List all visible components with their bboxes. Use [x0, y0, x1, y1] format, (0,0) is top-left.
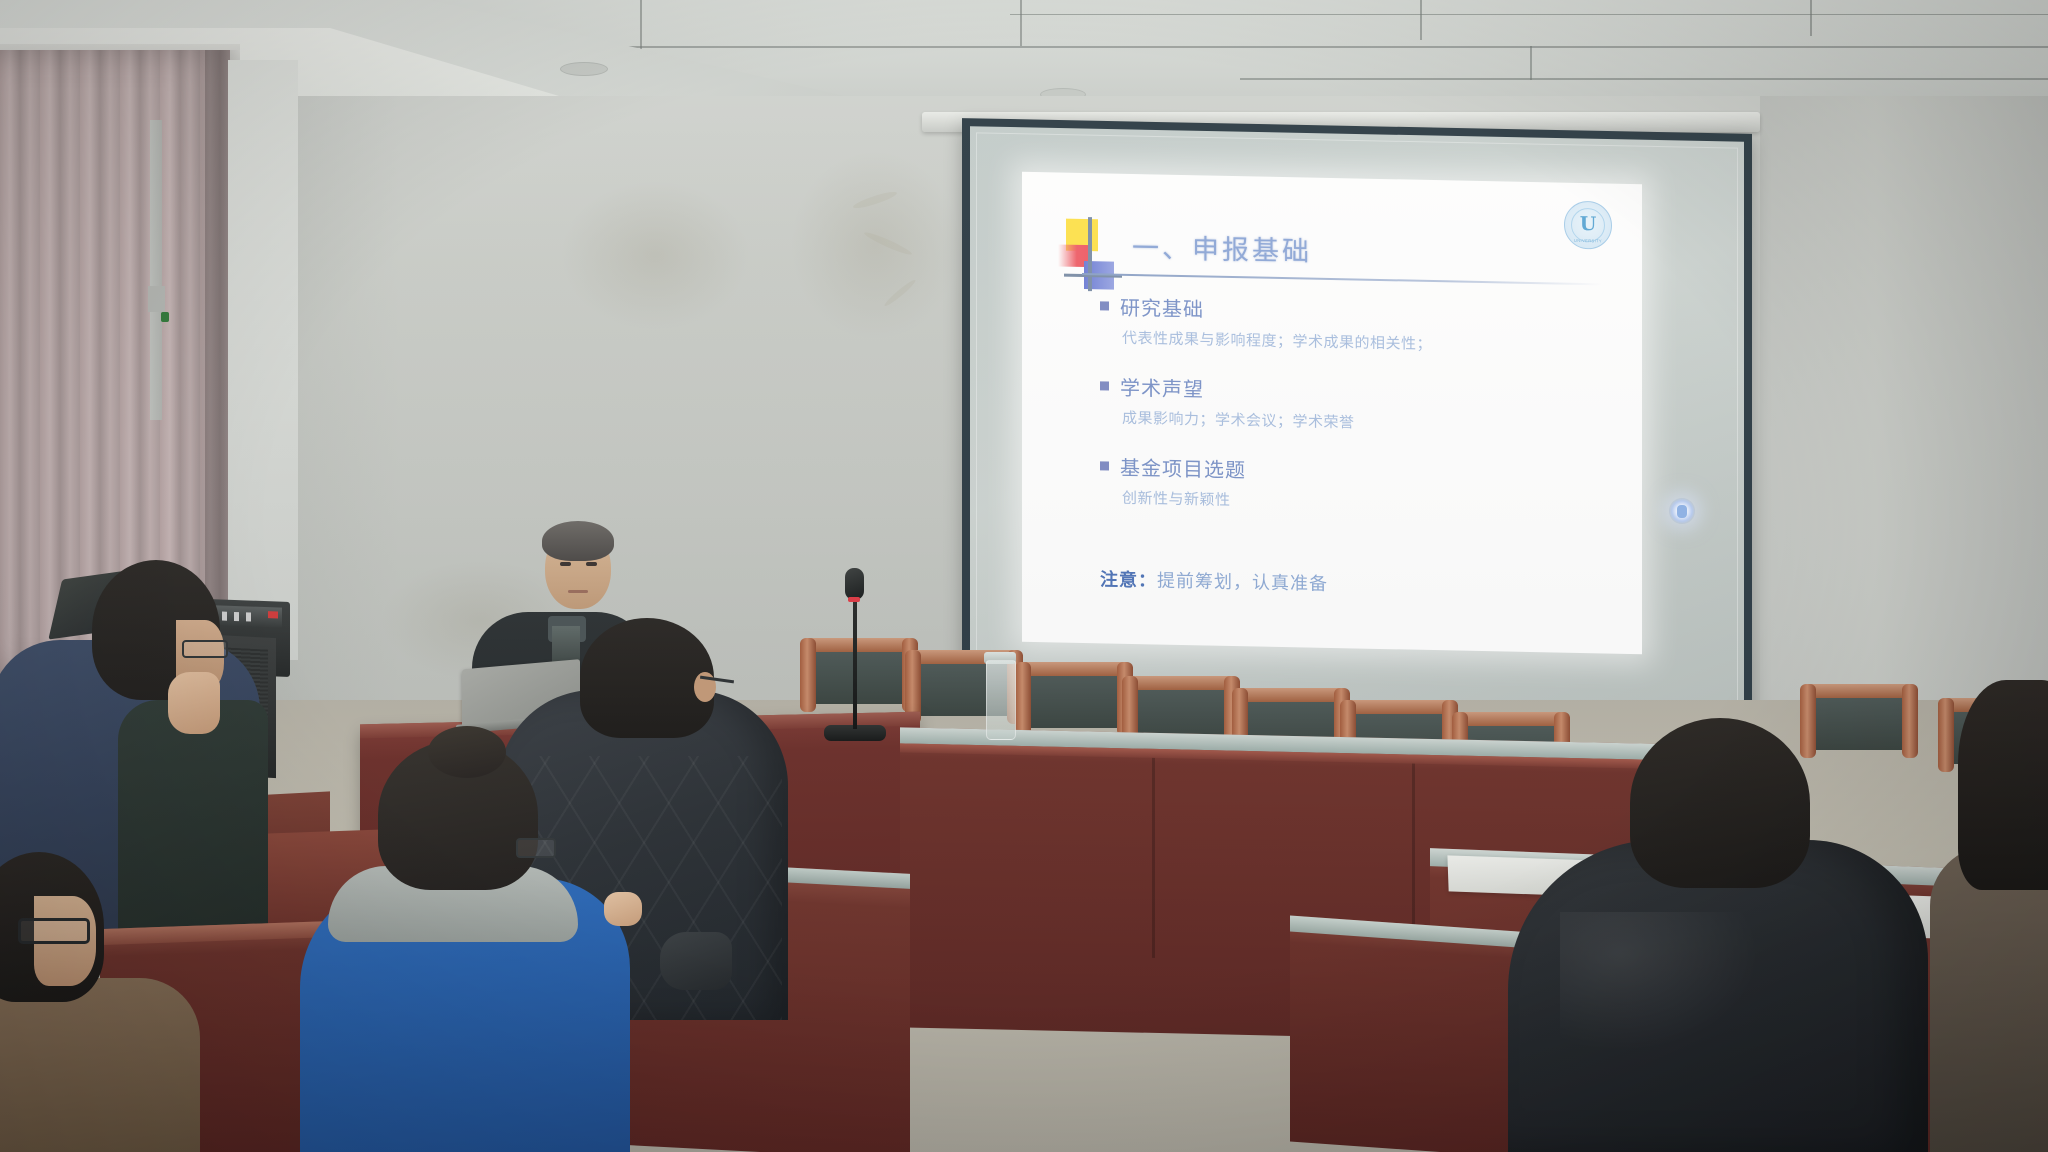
- slide-note: 注意：提前筹划，认真准备: [1100, 565, 1328, 596]
- wall-junction-box: [148, 286, 165, 312]
- window-panel: [228, 60, 298, 660]
- slide-decoration-icon: [1058, 216, 1122, 291]
- note-body-text: 提前筹划，认真准备: [1157, 570, 1328, 594]
- microphone-stem: [853, 585, 857, 729]
- audience-a-glasses-icon: [182, 640, 228, 658]
- mixer-power-led-icon: [268, 611, 278, 618]
- conference-chair: [800, 638, 918, 712]
- presenter-eye-right: [586, 562, 597, 566]
- water-glass: [986, 660, 1016, 740]
- presenter-eye-left: [560, 562, 571, 566]
- audience-c-hair-bun: [428, 726, 506, 778]
- wall-mark: [560, 180, 750, 330]
- slide-title-rule: [1082, 273, 1602, 285]
- list-item: 学术声望 成果影响力；学术会议；学术荣誉: [1100, 371, 1630, 438]
- audience-member-bottom-left: [0, 978, 200, 1152]
- slide-bullet-list: 研究基础 代表性成果与影响程度；学术成果的相关性； 学术声望 成果影响力；学术会…: [1100, 291, 1630, 528]
- presenter-hair: [542, 521, 614, 561]
- university-seal-logo: U UNIVERSITY: [1564, 201, 1612, 250]
- note-lead-label: 注意：: [1100, 569, 1157, 591]
- bullet-heading: 基金项目选题: [1120, 452, 1246, 484]
- bullet-heading: 研究基础: [1120, 292, 1204, 323]
- conference-chair: [1800, 684, 1918, 758]
- bullet-subtext: 代表性成果与影响程度；学术成果的相关性；: [1122, 327, 1630, 358]
- bullet-square-icon: [1100, 461, 1109, 470]
- conference-room-photo: U UNIVERSITY 一、申报基础 研究基础 代表性成果: [0, 0, 2048, 1152]
- projected-slide: U UNIVERSITY 一、申报基础 研究基础 代表性成果: [1022, 172, 1642, 654]
- bullet-subtext: 成果影响力；学术会议；学术荣誉: [1122, 407, 1630, 438]
- presenter-mouth: [568, 590, 588, 593]
- audience-c-glove: [660, 932, 732, 990]
- audience-f-glasses-icon: [18, 918, 90, 944]
- audience-d-jacket-sheen: [1560, 912, 1760, 1052]
- list-item: 基金项目选题 创新性与新颖性: [1100, 451, 1630, 518]
- status-light-icon: [161, 312, 169, 322]
- microphone-led-icon: [848, 597, 860, 602]
- audience-c-glasses-icon: [516, 838, 556, 858]
- seal-caption: UNIVERSITY: [1565, 238, 1611, 244]
- audience-a-hand: [168, 672, 220, 734]
- right-wall-column: [1760, 96, 2048, 716]
- bullet-heading: 学术声望: [1120, 372, 1204, 403]
- audience-b-head: [580, 618, 714, 738]
- ceiling-vent-icon: [560, 62, 608, 76]
- deco-vertical-bar: [1088, 217, 1092, 291]
- microphone-head-icon: [845, 568, 864, 600]
- wall-mark: [790, 150, 960, 340]
- audience-d-head: [1630, 718, 1810, 888]
- list-item: 研究基础 代表性成果与影响程度；学术成果的相关性；: [1100, 291, 1630, 358]
- slide-title: 一、申报基础: [1132, 226, 1312, 269]
- wall-conduit: [150, 120, 162, 420]
- wall-indicator-light-icon: [1669, 498, 1695, 524]
- wall-light-core: [1677, 505, 1687, 518]
- conference-chair: [1015, 662, 1133, 736]
- audience-e-hair: [1958, 680, 2048, 890]
- audience-a-vest: [118, 700, 268, 940]
- bullet-square-icon: [1100, 381, 1109, 390]
- bullet-subtext: 创新性与新颖性: [1122, 487, 1630, 518]
- audience-c-hand: [604, 892, 642, 926]
- audience-member-far-right: [1930, 846, 2048, 1152]
- seal-letter: U: [1565, 213, 1611, 236]
- bullet-square-icon: [1100, 301, 1109, 310]
